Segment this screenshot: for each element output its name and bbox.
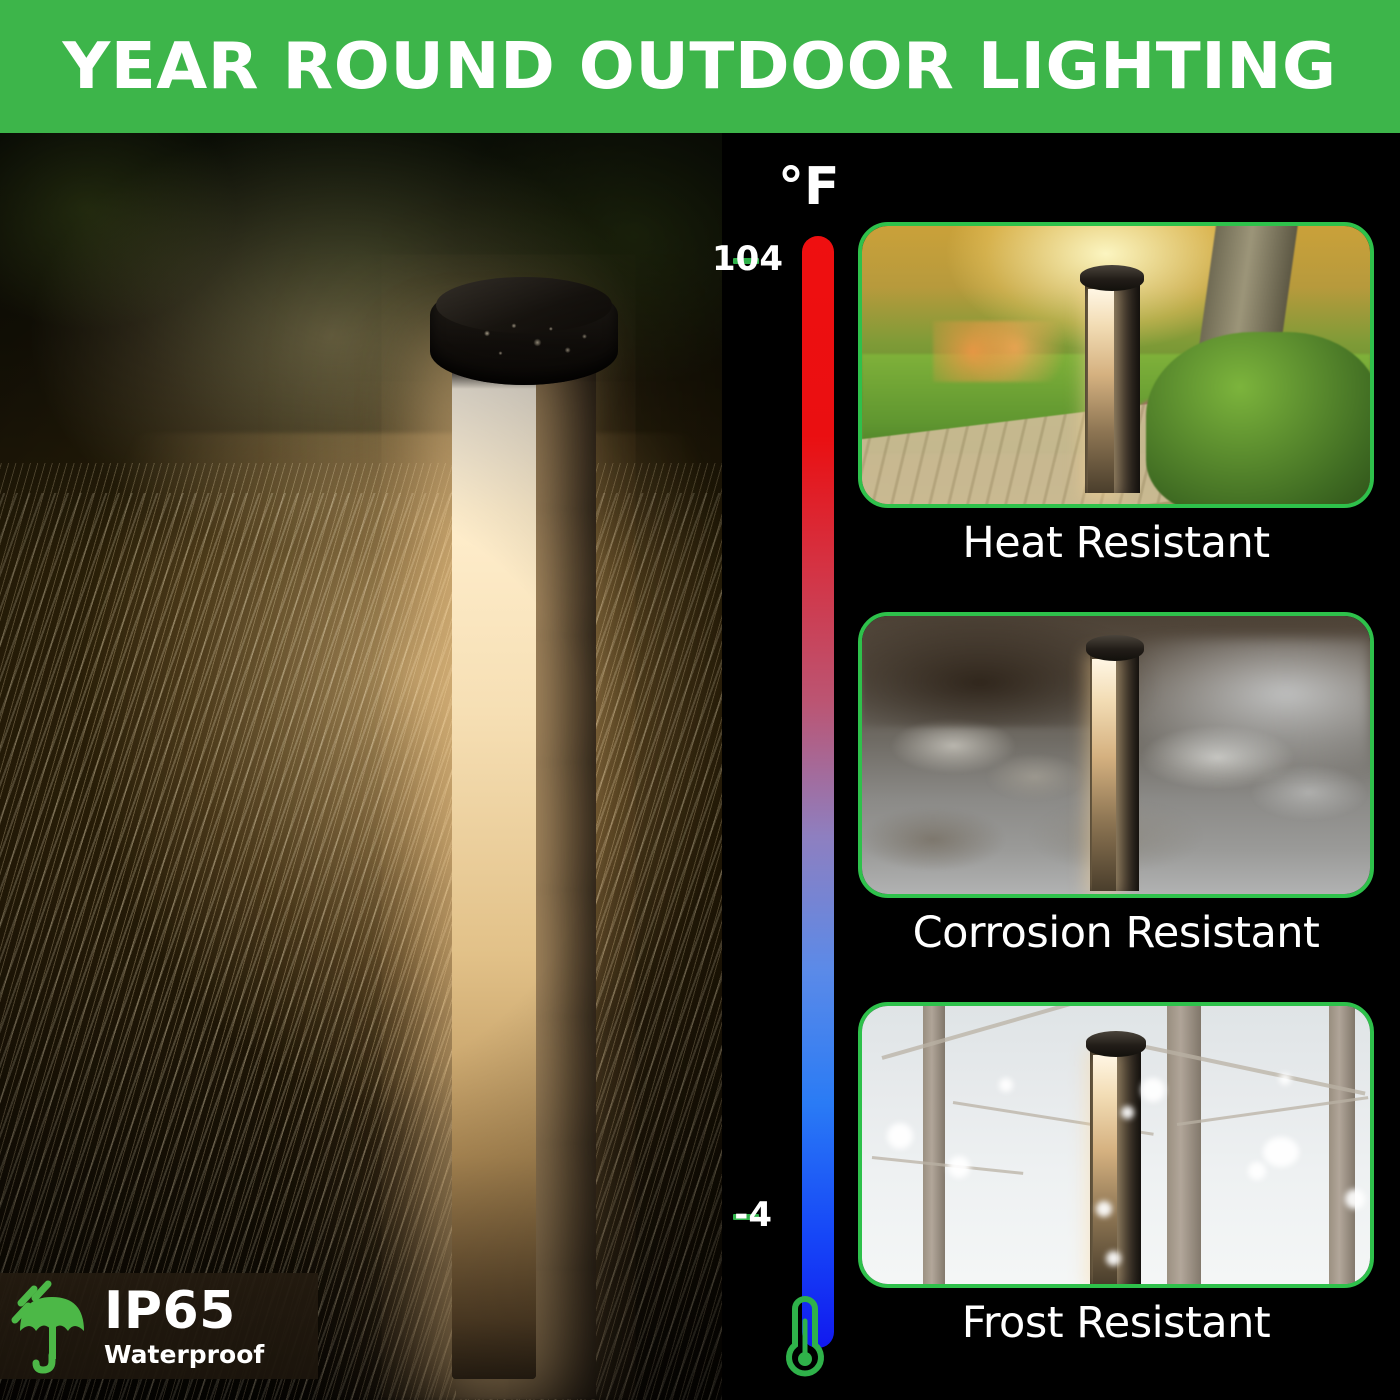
flower-pots (933, 321, 1065, 382)
frost-resistant-label: Frost Resistant (858, 1298, 1374, 1348)
bollard-cap (1086, 635, 1144, 661)
snowflake (1345, 1189, 1365, 1209)
shrub-bush (1146, 332, 1374, 508)
snowflake (1106, 1251, 1121, 1266)
feature-panels: Heat Resistant Corrosion Resistant (852, 133, 1400, 1400)
heat-resistant-photo (858, 222, 1374, 508)
bollard-light-product-heat (1080, 265, 1144, 493)
snowflake (887, 1123, 913, 1149)
hero-rain-photo (0, 133, 722, 1400)
bollard-light-product-corrosion (1086, 635, 1144, 891)
snowflake (1263, 1137, 1299, 1167)
tree-trunk (1167, 1006, 1201, 1284)
corrosion-resistant-label: Corrosion Resistant (858, 908, 1374, 958)
bollard-light-lens (1093, 1055, 1117, 1284)
temperature-unit-label: °F (778, 157, 840, 217)
bollard-light-lens (1092, 659, 1115, 891)
panel-heat-resistant: Heat Resistant (858, 222, 1374, 568)
header-banner: YEAR ROUND OUTDOOR LIGHTING (0, 0, 1400, 133)
infographic-page: YEAR ROUND OUTDOOR LIGHTING (0, 0, 1400, 1400)
bollard-light-lens (1088, 289, 1114, 493)
panel-frost-resistant: Frost Resistant (858, 1002, 1374, 1348)
bollard-cap (1086, 1031, 1146, 1057)
thermometer-icon (775, 1291, 835, 1377)
ip65-waterproof-badge: IP65 Waterproof (0, 1273, 318, 1379)
corrosion-resistant-photo (858, 612, 1374, 898)
snowflake (1279, 1073, 1291, 1085)
ip65-rating-label: IP65 (104, 1285, 264, 1337)
page-title: YEAR ROUND OUTDOOR LIGHTING (63, 30, 1337, 104)
snowflake (1248, 1162, 1266, 1180)
bollard-light-product-frost (1086, 1031, 1146, 1284)
snowflake (1096, 1201, 1112, 1217)
tree-trunk (923, 1006, 945, 1284)
heat-resistant-label: Heat Resistant (858, 518, 1374, 568)
waterproof-label: Waterproof (104, 1342, 264, 1367)
temperature-low-label: -4 (730, 1195, 772, 1235)
tree-trunk (1329, 1006, 1355, 1284)
temperature-scale: °F 104 -4 (722, 133, 852, 1400)
frost-resistant-photo (858, 1002, 1374, 1288)
temperature-gradient-bar (802, 236, 834, 1348)
umbrella-rain-icon (0, 1273, 104, 1379)
temperature-high-label: 104 (712, 239, 772, 279)
hero-vignette (0, 133, 722, 1400)
panel-corrosion-resistant: Corrosion Resistant (858, 612, 1374, 958)
ip65-text-block: IP65 Waterproof (104, 1285, 264, 1367)
bollard-cap (1080, 265, 1144, 291)
